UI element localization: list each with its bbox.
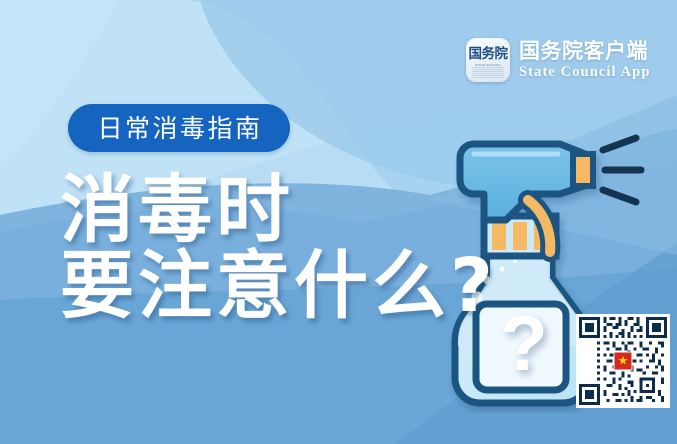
nozzle-tip xyxy=(573,154,593,186)
poster-canvas: 国务院 STATE COUNCIL 国务院客户端 State Council A… xyxy=(0,0,677,444)
state-council-app-logo-icon: 国务院 STATE COUNCIL xyxy=(466,38,510,82)
brand-name-cn: 国务院客户端 xyxy=(519,41,651,62)
spray-lines xyxy=(603,138,641,202)
headline-line-2: 要注意什么? xyxy=(60,251,497,323)
national-emblem: ★ xyxy=(614,352,633,371)
national-emblem-field: ★ xyxy=(615,353,632,370)
brand-name-en: State Council App xyxy=(519,65,651,80)
category-badge: 日常消毒指南 xyxy=(68,104,290,152)
bottle-question-mark: ? xyxy=(500,299,548,387)
state-council-qr-code[interactable]: ★ xyxy=(576,314,670,408)
category-badge-label: 日常消毒指南 xyxy=(95,116,262,141)
headline-block: 消毒时 要注意什么? xyxy=(60,175,497,323)
headline-line-1: 消毒时 xyxy=(60,175,497,247)
logo-icon-texture xyxy=(472,67,504,78)
brand-lockup: 国务院 STATE COUNCIL 国务院客户端 State Council A… xyxy=(466,38,651,82)
logo-icon-label-cn: 国务院 xyxy=(469,48,508,62)
brand-text-block: 国务院客户端 State Council App xyxy=(519,41,651,80)
national-emblem-star: ★ xyxy=(618,355,629,367)
